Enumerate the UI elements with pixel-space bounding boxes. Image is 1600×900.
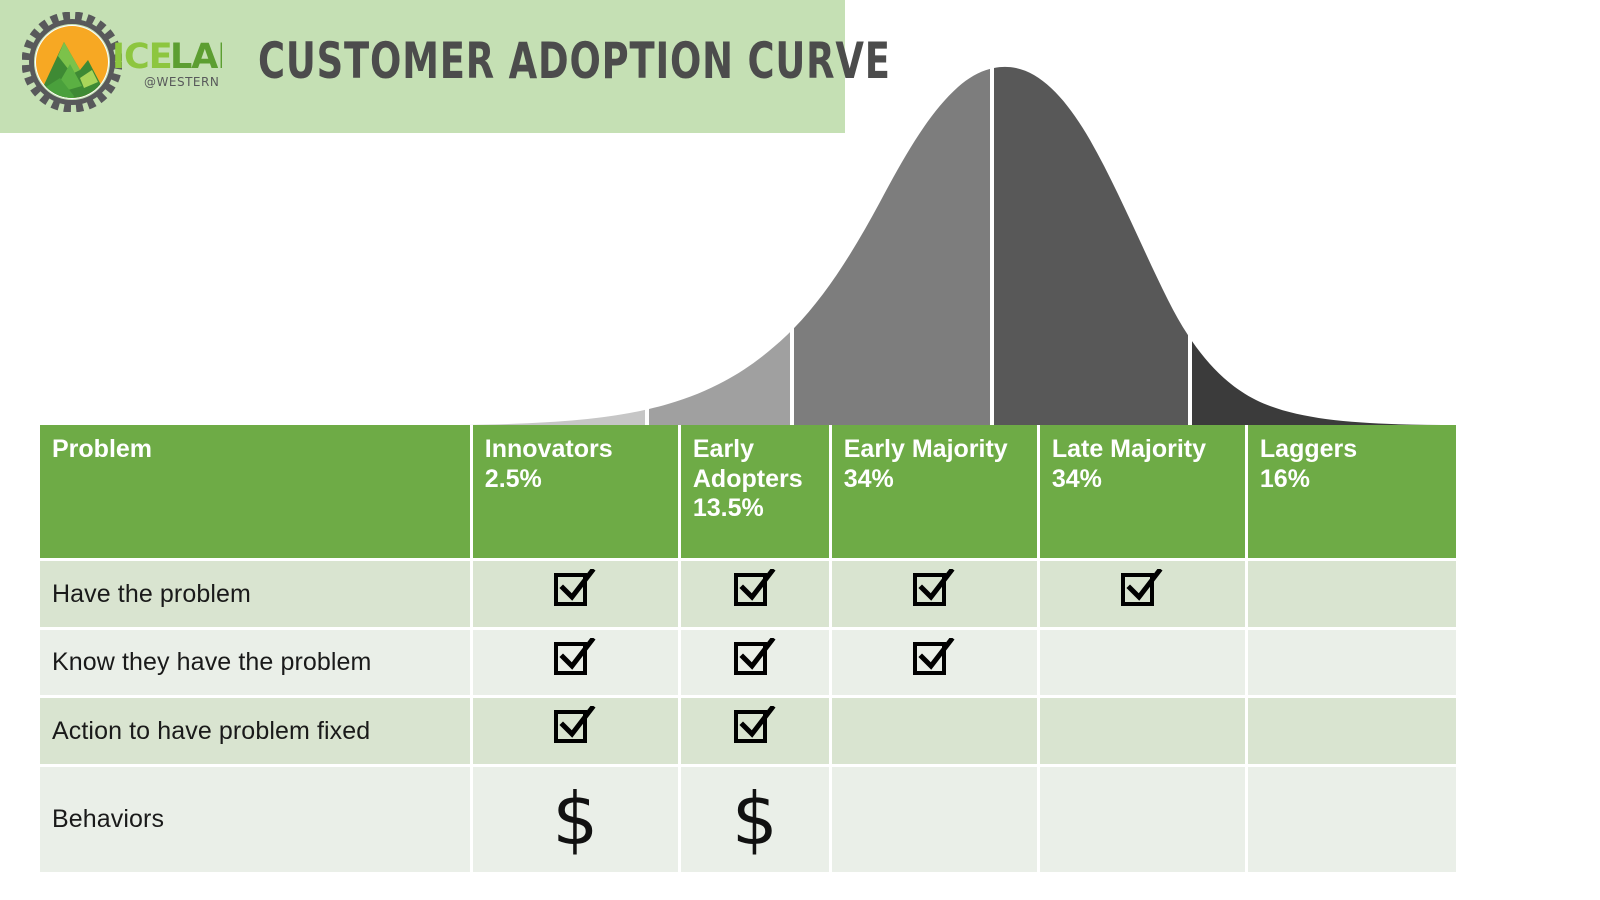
checkbox-checked-icon: [554, 642, 596, 684]
check-mark-icon: [738, 638, 776, 676]
cell-behaviors-early-adopters: $: [681, 767, 832, 875]
cell-behaviors-early-majority: [832, 767, 1040, 875]
table-header-row: Problem Innovators 2.5% Early Adopters 1…: [40, 425, 1456, 561]
icelab-logo: [22, 12, 122, 112]
cell-know-late-majority: [1040, 630, 1248, 698]
row-label-action-to-have-problem-fixed: Action to have problem fixed: [40, 698, 473, 767]
table-row: Know they have the problem: [40, 630, 1456, 698]
row-label-behaviors: Behaviors: [40, 767, 473, 875]
check-mark-icon: [558, 706, 596, 744]
adoption-matrix-table: Problem Innovators 2.5% Early Adopters 1…: [40, 425, 1456, 875]
check-mark-icon: [558, 569, 596, 607]
check-mark-icon: [738, 706, 776, 744]
check-mark-icon: [558, 638, 596, 676]
header-pct: 13.5%: [693, 494, 764, 522]
header-name: Problem: [52, 435, 152, 463]
brand-western-text: @WESTERN: [144, 75, 219, 89]
checkbox-checked-icon: [1121, 573, 1163, 615]
cell-behaviors-innovators: $: [473, 767, 681, 875]
cell-action-early-majority: [832, 698, 1040, 767]
cell-have-early-majority: [832, 561, 1040, 630]
row-label-know-they-have-the-problem: Know they have the problem: [40, 630, 473, 698]
cell-know-laggers: [1248, 630, 1456, 698]
column-header-innovators: Innovators 2.5%: [473, 425, 681, 561]
brand-ice-text: ICE: [112, 37, 172, 77]
empty-cell: [1142, 734, 1143, 735]
empty-cell: [1142, 666, 1143, 667]
dollar-sign-icon: $: [732, 787, 778, 852]
checkbox-checked-icon: [734, 642, 776, 684]
cell-action-laggers: [1248, 698, 1456, 767]
checkbox-checked-icon: [734, 573, 776, 615]
cell-know-early-majority: [832, 630, 1040, 698]
dollar-sign-icon: $: [552, 787, 598, 852]
cell-behaviors-laggers: [1248, 767, 1456, 875]
column-header-early-adopters: Early Adopters 13.5%: [681, 425, 832, 561]
gear-mountain-icon: [22, 12, 122, 112]
cell-have-laggers: [1248, 561, 1456, 630]
cell-know-innovators: [473, 630, 681, 698]
table-row: Have the problem: [40, 561, 1456, 630]
header-name: Innovators: [485, 435, 613, 463]
brand-lab-text: LAB: [170, 37, 222, 77]
empty-cell: [934, 823, 935, 824]
column-header-early-majority: Early Majority 34%: [832, 425, 1040, 561]
column-header-problem: Problem: [40, 425, 473, 561]
column-header-laggers: Laggers 16%: [1248, 425, 1456, 561]
cell-know-early-adopters: [681, 630, 832, 698]
header-name: Laggers: [1260, 435, 1357, 463]
header-pct: 2.5%: [485, 465, 542, 493]
empty-cell: [1142, 823, 1143, 824]
table-row: Behaviors $ $: [40, 767, 1456, 875]
check-mark-icon: [917, 569, 955, 607]
check-mark-icon: [917, 638, 955, 676]
checkbox-checked-icon: [913, 573, 955, 615]
check-mark-icon: [738, 569, 776, 607]
checkbox-checked-icon: [554, 710, 596, 752]
empty-cell: [1351, 597, 1352, 598]
empty-cell: [934, 734, 935, 735]
cell-have-innovators: [473, 561, 681, 630]
empty-cell: [1351, 666, 1352, 667]
header-name: Early Adopters: [693, 435, 803, 493]
icelab-wordmark: ICE LAB @WESTERN: [112, 32, 222, 102]
cell-action-late-majority: [1040, 698, 1248, 767]
checkbox-checked-icon: [734, 710, 776, 752]
cell-action-early-adopters: [681, 698, 832, 767]
page-title: CUSTOMER ADOPTION CURVE: [258, 36, 891, 86]
cell-have-late-majority: [1040, 561, 1248, 630]
header-name: Early Majority: [844, 435, 1008, 463]
header-name: Late Majority: [1052, 435, 1206, 463]
table-row: Action to have problem fixed: [40, 698, 1456, 767]
title-band: ICE LAB @WESTERN CUSTOMER ADOPTION CURVE: [0, 0, 845, 133]
header-pct: 16%: [1260, 465, 1310, 493]
empty-cell: [1351, 823, 1352, 824]
cell-behaviors-late-majority: [1040, 767, 1248, 875]
column-header-late-majority: Late Majority 34%: [1040, 425, 1248, 561]
checkbox-checked-icon: [913, 642, 955, 684]
checkbox-checked-icon: [554, 573, 596, 615]
slide-canvas: ICE LAB @WESTERN CUSTOMER ADOPTION CURVE…: [0, 0, 1600, 900]
cell-have-early-adopters: [681, 561, 832, 630]
header-pct: 34%: [844, 465, 894, 493]
check-mark-icon: [1125, 569, 1163, 607]
header-pct: 34%: [1052, 465, 1102, 493]
empty-cell: [1351, 734, 1352, 735]
row-label-have-the-problem: Have the problem: [40, 561, 473, 630]
cell-action-innovators: [473, 698, 681, 767]
